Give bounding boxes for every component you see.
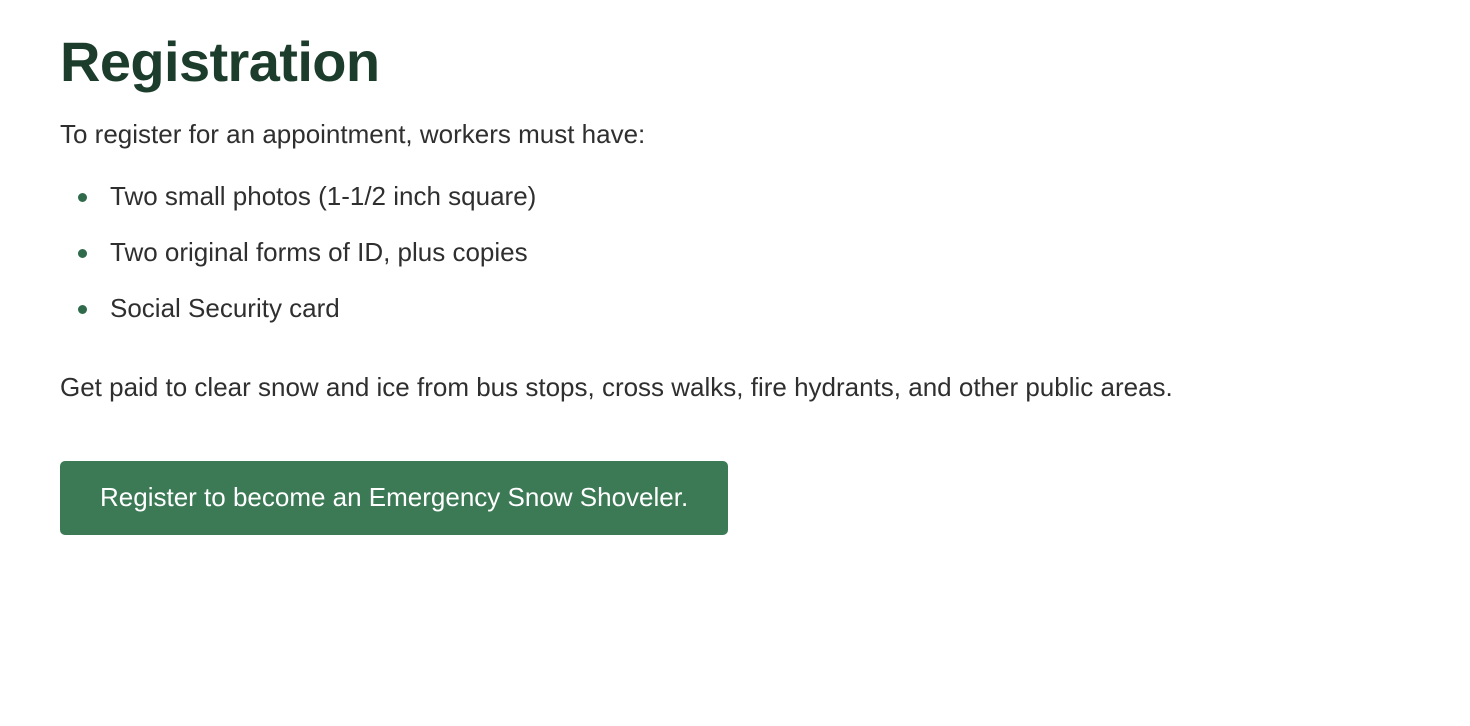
page-title: Registration	[60, 0, 1410, 94]
bullet-icon	[78, 305, 87, 314]
bullet-icon	[78, 249, 87, 258]
intro-paragraph: To register for an appointment, workers …	[60, 116, 1410, 154]
bullet-icon	[78, 193, 87, 202]
register-button[interactable]: Register to become an Emergency Snow Sho…	[60, 461, 728, 535]
list-item: Two small photos (1-1/2 inch square)	[60, 180, 1410, 214]
requirements-list: Two small photos (1-1/2 inch square) Two…	[60, 180, 1410, 325]
list-item: Social Security card	[60, 292, 1410, 326]
list-item-label: Two small photos (1-1/2 inch square)	[110, 181, 536, 211]
registration-section: Registration To register for an appointm…	[0, 0, 1470, 726]
list-item: Two original forms of ID, plus copies	[60, 236, 1410, 270]
list-item-label: Social Security card	[110, 293, 340, 323]
list-item-label: Two original forms of ID, plus copies	[110, 237, 528, 267]
description-paragraph: Get paid to clear snow and ice from bus …	[60, 365, 1390, 411]
